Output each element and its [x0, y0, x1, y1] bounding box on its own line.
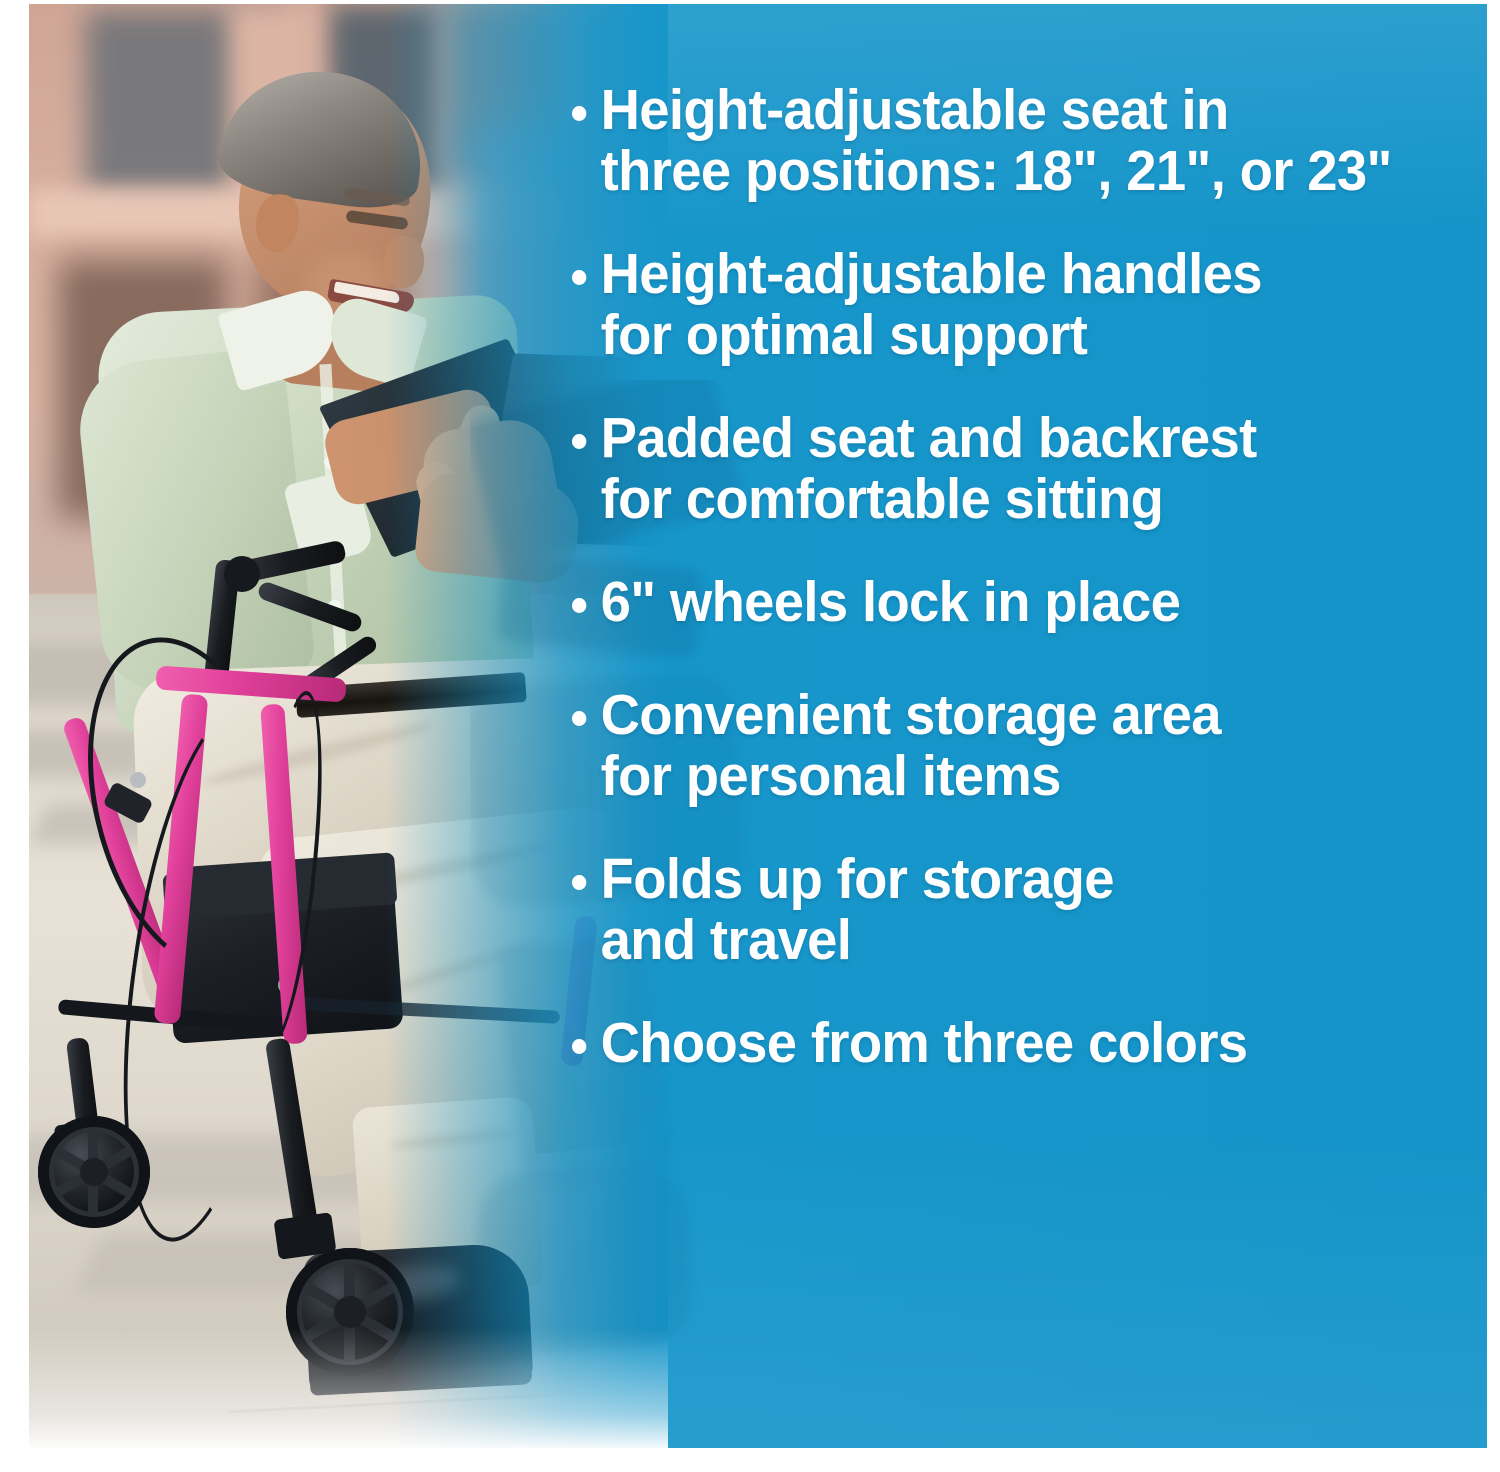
feature-bullet-wheel-lock: 6" wheels lock in place [572, 572, 1422, 633]
page-margin-bottom [0, 1448, 1500, 1472]
feature-bullet-color-choice: Choose from three colors [572, 1013, 1422, 1074]
shirt-sleeve [73, 346, 316, 696]
feature-bullet-seat-height: Height-adjustable seat in three position… [572, 80, 1422, 202]
wheel-hub [80, 1158, 108, 1186]
page-margin-left [0, 0, 29, 1472]
walker-handle-grip [224, 556, 260, 592]
product-feature-poster: Height-adjustable seat in three position… [0, 0, 1500, 1472]
feature-bullet-handle-height: Height-adjustable handles for optimal su… [572, 244, 1422, 366]
wheel-hub [334, 1296, 366, 1328]
feature-bullet-list: Height-adjustable seat in three position… [572, 80, 1462, 1074]
page-margin-top [0, 0, 1500, 4]
feature-bullet-storage-area: Convenient storage area for personal ite… [572, 685, 1422, 807]
feature-bullet-folds-up: Folds up for storage and travel [572, 849, 1422, 971]
page-margin-right [1487, 0, 1500, 1472]
mans-hand [413, 470, 583, 586]
cable-end-cap [130, 772, 146, 788]
feature-bullet-padded-seat: Padded seat and backrest for comfortable… [572, 408, 1422, 530]
